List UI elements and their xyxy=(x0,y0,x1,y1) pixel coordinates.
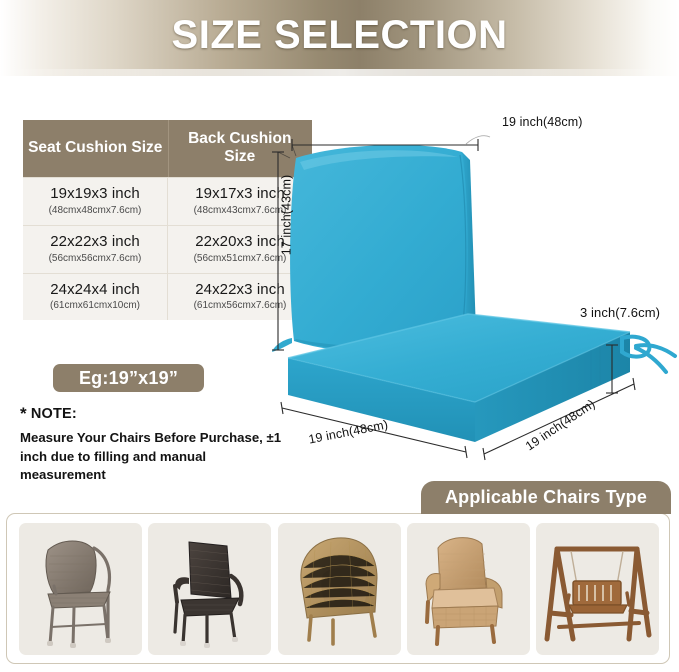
chair-card-taupe-wicker-armless[interactable] xyxy=(19,523,142,655)
seat-size-cell: 19x19x3 inch (48cmx48cmx7.6cm) xyxy=(23,177,168,225)
note-heading: *NOTE: xyxy=(20,404,290,424)
seat-size-cm: (61cmx61cmx10cm) xyxy=(25,300,165,311)
seat-size-inches: 24x24x4 inch xyxy=(25,282,165,299)
dark-brown-wicker-armchair-icon xyxy=(155,528,265,650)
dimension-label-back-height: 17 inch(43cm) xyxy=(279,175,293,256)
applicable-chairs-panel xyxy=(6,513,670,664)
table-row: 24x24x4 inch (61cmx61cmx10cm) 24x22x3 in… xyxy=(23,273,312,320)
note-heading-text: NOTE: xyxy=(31,406,77,422)
page-title: SIZE SELECTION xyxy=(0,13,679,58)
table-header-row: Seat Cushion Size Back Cushion Size xyxy=(23,120,312,177)
chair-cards-row xyxy=(19,523,659,655)
taupe-wicker-armless-chair-icon xyxy=(26,528,136,650)
chair-card-tan-wicker-tub[interactable] xyxy=(278,523,401,655)
wooden-porch-swing-icon xyxy=(539,527,657,651)
natural-wicker-armchair-icon xyxy=(412,528,524,650)
seat-size-inches: 19x19x3 inch xyxy=(25,186,165,203)
chair-card-wooden-porch-swing[interactable] xyxy=(536,523,659,655)
note-block: *NOTE: Measure Your Chairs Before Purcha… xyxy=(20,404,290,485)
chair-card-natural-wicker-armchair[interactable] xyxy=(407,523,530,655)
header-banner: SIZE SELECTION xyxy=(0,0,679,76)
seat-size-cell: 22x22x3 inch (56cmx56cmx7.6cm) xyxy=(23,225,168,273)
seat-size-cm: (56cmx56cmx7.6cm) xyxy=(25,253,165,264)
asterisk-icon: * xyxy=(20,404,27,423)
column-header-seat-cushion: Seat Cushion Size xyxy=(23,120,168,177)
seat-size-cm: (48cmx48cmx7.6cm) xyxy=(25,205,165,216)
dimension-label-thickness: 3 inch(7.6cm) xyxy=(580,305,660,320)
size-table: Seat Cushion Size Back Cushion Size 19x1… xyxy=(23,120,312,320)
seat-size-inches: 22x22x3 inch xyxy=(25,234,165,251)
tan-wicker-tub-chair-icon xyxy=(283,528,395,650)
table-row: 22x22x3 inch (56cmx56cmx7.6cm) 22x20x3 i… xyxy=(23,225,312,273)
applicable-chairs-tab: Applicable Chairs Type xyxy=(421,481,671,514)
product-illustration: 19 inch(48cm) 17 inch(43cm) 3 inch(7.6cm… xyxy=(270,100,679,485)
chair-card-dark-wicker-armchair[interactable] xyxy=(148,523,271,655)
example-size-badge: Eg:19”x19” xyxy=(53,364,204,392)
note-body: Measure Your Chairs Before Purchase, ±1 … xyxy=(20,429,290,485)
table-row: 19x19x3 inch (48cmx48cmx7.6cm) 19x17x3 i… xyxy=(23,177,312,225)
dimension-label-back-width: 19 inch(48cm) xyxy=(502,115,583,129)
seat-size-cell: 24x24x4 inch (61cmx61cmx10cm) xyxy=(23,273,168,320)
